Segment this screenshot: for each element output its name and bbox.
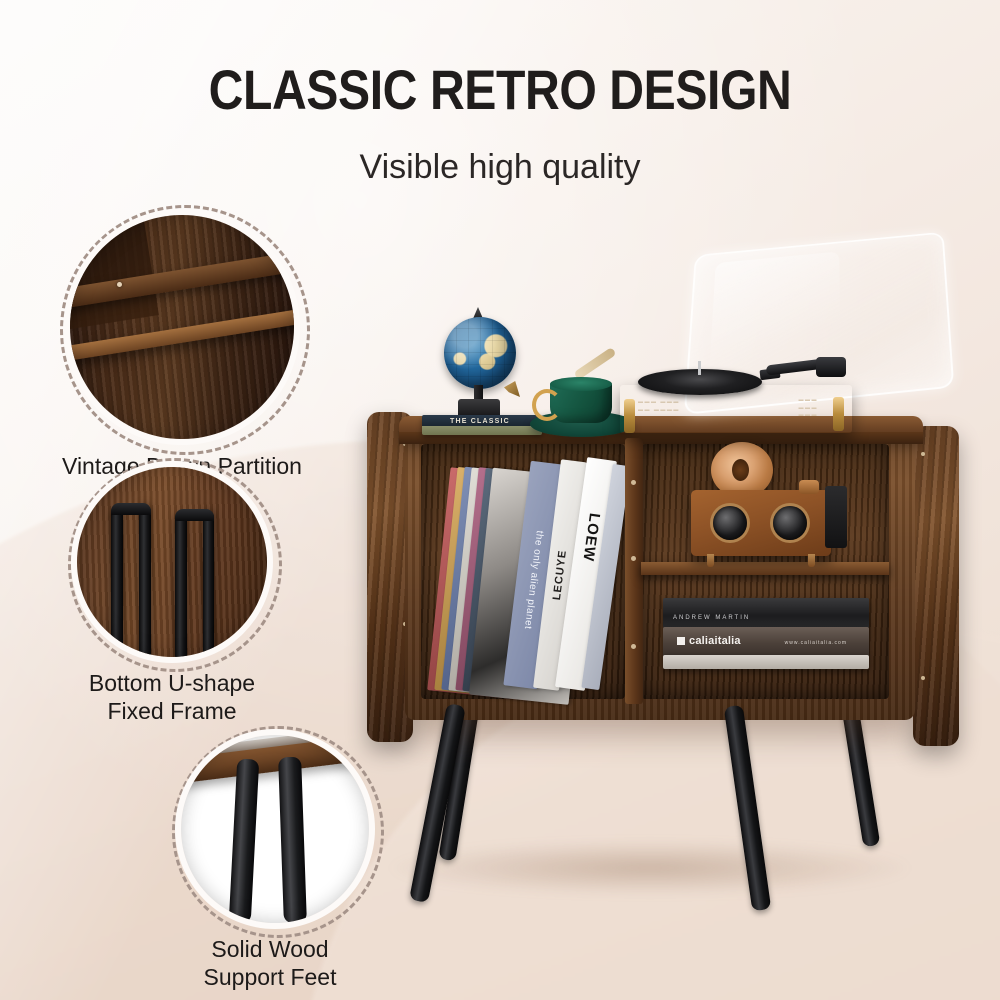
book-andrew-martin: ANDREW MARTIN	[663, 598, 869, 628]
wooden-spoon	[573, 347, 616, 380]
floor-shadow	[390, 841, 910, 895]
decorative-globe	[442, 307, 518, 425]
cabinet-body: the only alien planet LECUYE LOEW	[405, 430, 915, 720]
page-title: CLASSIC RETRO DESIGN	[70, 62, 930, 118]
book-caliaitalia: caliaitalia www.caliaitalia.com	[663, 627, 869, 657]
cabinet-side-panel-right	[913, 426, 959, 746]
mug-handle	[532, 389, 562, 421]
callout-caption-u-frame-line2: Fixed Frame	[107, 698, 236, 725]
infographic-canvas: CLASSIC RETRO DESIGN Visible high qualit…	[0, 0, 1000, 1000]
turntable-tonearm-base	[816, 357, 846, 377]
the-classic-book: THE CLASSIC	[422, 415, 542, 435]
book-bottom-white	[663, 655, 869, 669]
callout-photo-u-frame	[77, 467, 267, 657]
stacked-books-lower-shelf: ANDREW MARTIN caliaitalia www.caliaitali…	[663, 598, 869, 670]
green-mug-and-saucer	[538, 367, 626, 437]
callout-caption-feet-line2: Support Feet	[204, 964, 337, 991]
callout-vintage-brown-partition: Vintage Brown Partition	[60, 205, 360, 455]
record-player-turntable: ▬▬▬ ▬▬▬▬▬ ▬▬▬▬ ▬▬▬▬▬▬▬▬▬	[620, 355, 852, 433]
dust-cover-hinge-left	[624, 399, 635, 433]
callout-caption-feet-line1: Solid Wood	[211, 936, 328, 963]
callout-photo-support-feet	[181, 735, 369, 923]
speaker-side-module	[825, 486, 847, 548]
callout-bottom-u-shape-fixed-frame: Bottom U-shape Fixed Frame	[68, 458, 368, 728]
cabinet-shelf-right	[641, 562, 889, 575]
product-photo: the only alien planet LECUYE LOEW	[380, 255, 970, 955]
callout-photo-partition	[70, 215, 294, 439]
wooden-bluetooth-speaker	[691, 490, 831, 556]
globe-arrow-icon	[504, 381, 520, 397]
page-subtitle: Visible high quality	[0, 150, 1000, 184]
turntable-spindle	[698, 361, 701, 375]
caliaitalia-logo-icon	[677, 637, 685, 645]
callout-caption-u-frame-line1: Bottom U-shape	[89, 670, 255, 697]
dust-cover-hinge-right	[833, 397, 844, 431]
cubby-left: the only alien planet LECUYE LOEW	[421, 444, 625, 699]
